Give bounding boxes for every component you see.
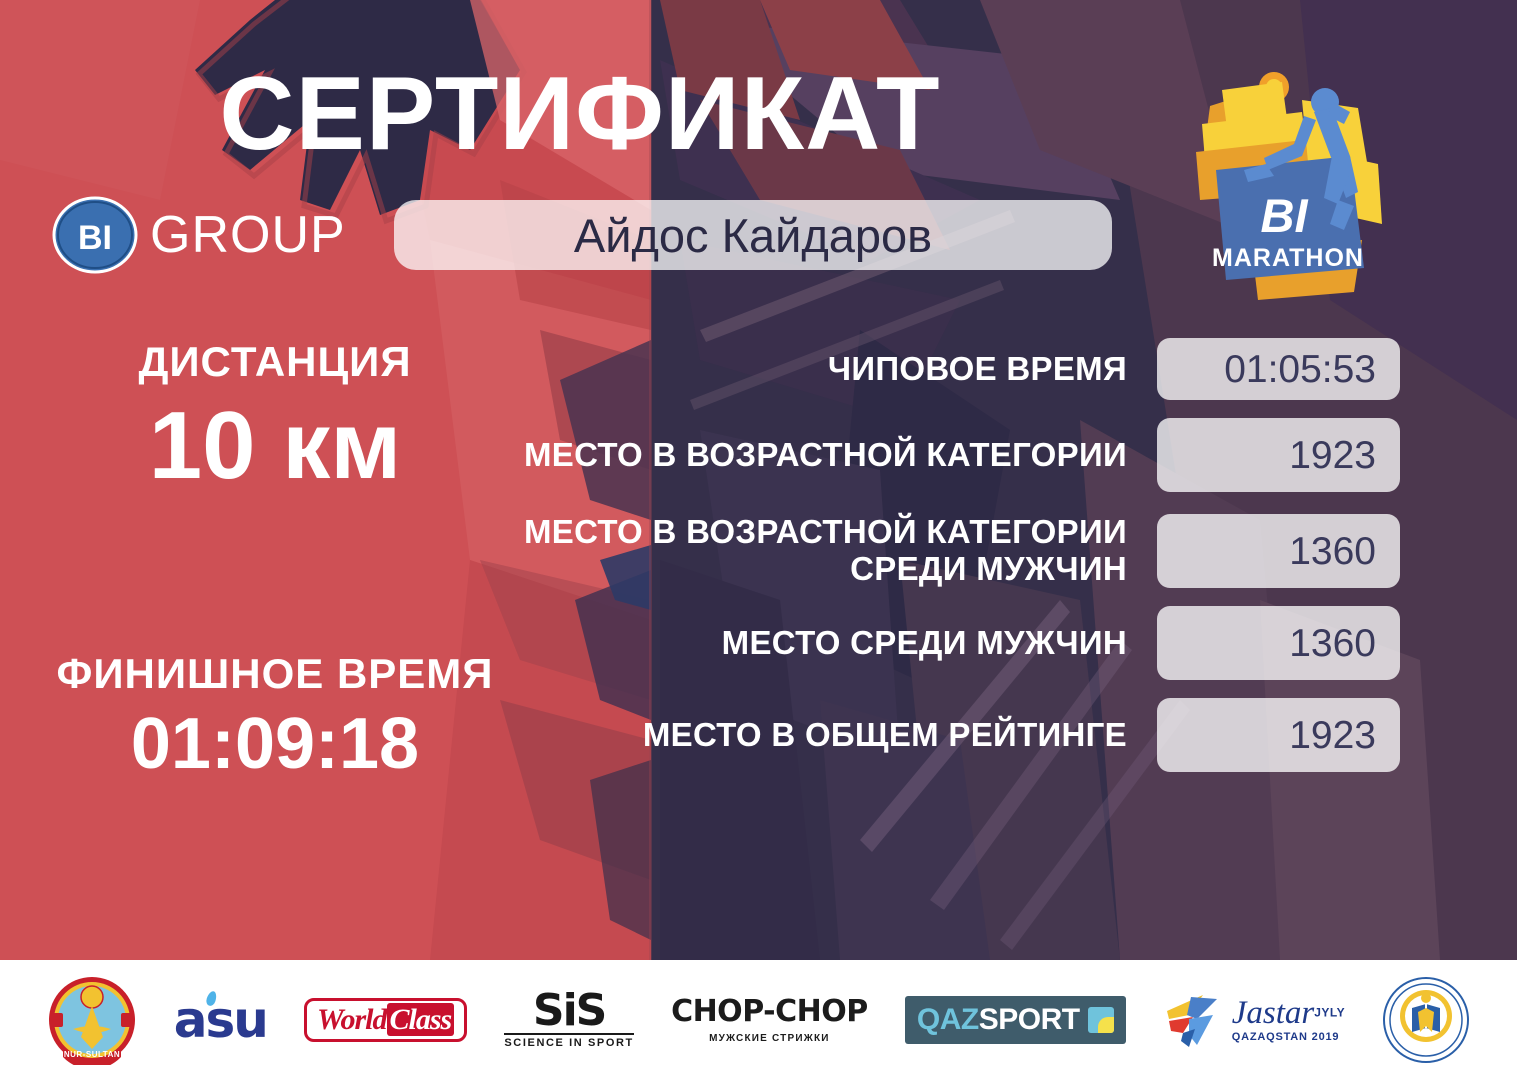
stat-value: 1923	[1289, 716, 1376, 755]
certificate-root: СЕРТИФИКАТ BI GROUP Айдос Кайдаров	[0, 0, 1517, 1080]
distance-label: ДИСТАНЦИЯ	[20, 340, 530, 384]
page-title: СЕРТИФИКАТ	[0, 62, 1160, 166]
stats-list: ЧИПОВОЕ ВРЕМЯ 01:05:53 МЕСТО В ВОЗРАСТНО…	[520, 338, 1400, 790]
distance-block: ДИСТАНЦИЯ 10 км	[20, 340, 530, 497]
stat-label: МЕСТО В ВОЗРАСТНОЙ КАТЕГОРИИ	[520, 437, 1157, 474]
stat-value-pill: 1360	[1157, 606, 1400, 680]
nur-sultan-emblem-icon: NUR-SULTAN	[47, 970, 137, 1070]
chop-chop-logo: CHOP-CHOP МУЖСКИЕ СТРИЖКИ	[671, 970, 868, 1070]
sis-logo: SiS SCIENCE IN SPORT	[504, 970, 634, 1070]
stat-row: МЕСТО СРЕДИ МУЖЧИН 1360	[520, 606, 1400, 680]
stat-row: МЕСТО В ОБЩЕМ РЕЙТИНГЕ 1923	[520, 698, 1400, 772]
finish-time-block: ФИНИШНОЕ ВРЕМЯ 01:09:18	[20, 650, 530, 783]
certificate-content: СЕРТИФИКАТ BI GROUP Айдос Кайдаров	[0, 0, 1517, 960]
svg-text:MARATHON: MARATHON	[1212, 244, 1364, 272]
jastar-wordmark: Jastar	[1232, 995, 1315, 1031]
qazsport-square-icon	[1088, 1007, 1114, 1033]
world-class-text2: Class	[387, 1003, 455, 1036]
jastar-bird-icon	[1163, 989, 1225, 1051]
world-class-text1: World	[317, 1003, 386, 1036]
jastar-subtitle: QAZAQSTAN 2019	[1232, 1032, 1345, 1043]
asu-text: asu	[174, 991, 267, 1049]
participant-name-value: Айдос Кайдаров	[574, 212, 932, 259]
stat-value: 01:05:53	[1224, 350, 1376, 389]
stat-label: МЕСТО В ОБЩЕМ РЕЙТИНГЕ	[520, 717, 1157, 754]
stat-value-pill: 01:05:53	[1157, 338, 1400, 400]
bi-group-word: GROUP	[150, 209, 346, 261]
asu-logo: asu	[174, 970, 267, 1070]
bi-group-logo: BI GROUP	[52, 195, 346, 275]
world-class-logo: WorldClass	[304, 970, 467, 1070]
stat-value: 1360	[1289, 624, 1376, 663]
sponsor-bar: NUR-SULTAN asu WorldClass SiS SCIENCE IN…	[0, 960, 1517, 1080]
chop-chop-tagline: МУЖСКИЕ СТРИЖКИ	[671, 1033, 868, 1044]
qazsport-text1: QAZ	[917, 1003, 979, 1036]
jastar-jyly-logo: JastarJYLY QAZAQSTAN 2019	[1163, 970, 1345, 1070]
qazsport-text2: SPORT	[979, 1003, 1080, 1036]
stat-label: МЕСТО В ВОЗРАСТНОЙ КАТЕГОРИИ СРЕДИ МУЖЧИ…	[520, 514, 1157, 588]
finish-time-label: ФИНИШНОЕ ВРЕМЯ	[20, 650, 530, 697]
finish-time-value: 01:09:18	[20, 707, 530, 783]
stat-label: МЕСТО СРЕДИ МУЖЧИН	[520, 625, 1157, 662]
participant-name-field: Айдос Кайдаров	[394, 200, 1112, 270]
stat-label: ЧИПОВОЕ ВРЕМЯ	[520, 351, 1157, 388]
stat-row: МЕСТО В ВОЗРАСТНОЙ КАТЕГОРИИ СРЕДИ МУЖЧИ…	[520, 514, 1400, 588]
qazsport-logo: QAZSPORT	[905, 970, 1126, 1070]
stat-row: ЧИПОВОЕ ВРЕМЯ 01:05:53	[520, 338, 1400, 400]
asu-wordmark: asu	[174, 995, 267, 1045]
stat-value-pill: 1923	[1157, 698, 1400, 772]
ministry-sport-emblem-icon	[1382, 970, 1470, 1070]
stat-row: МЕСТО В ВОЗРАСТНОЙ КАТЕГОРИИ 1923	[520, 418, 1400, 492]
chop-chop-wordmark: CHOP-CHOP	[671, 997, 868, 1027]
bi-marathon-logo: BI MARATHON	[1182, 64, 1412, 304]
nur-sultan-label: NUR-SULTAN	[63, 1050, 119, 1059]
stat-value-pill: 1923	[1157, 418, 1400, 492]
stat-value: 1360	[1289, 532, 1376, 571]
bi-badge-icon: BI	[52, 195, 138, 275]
svg-text:BI: BI	[1261, 189, 1309, 242]
stat-value: 1923	[1289, 436, 1376, 475]
distance-value: 10 км	[20, 396, 530, 497]
jastar-jyly-text: JYLY	[1314, 1006, 1345, 1020]
sis-wordmark: SiS	[504, 991, 634, 1031]
stat-value-pill: 1360	[1157, 514, 1400, 588]
svg-text:BI: BI	[78, 219, 112, 257]
